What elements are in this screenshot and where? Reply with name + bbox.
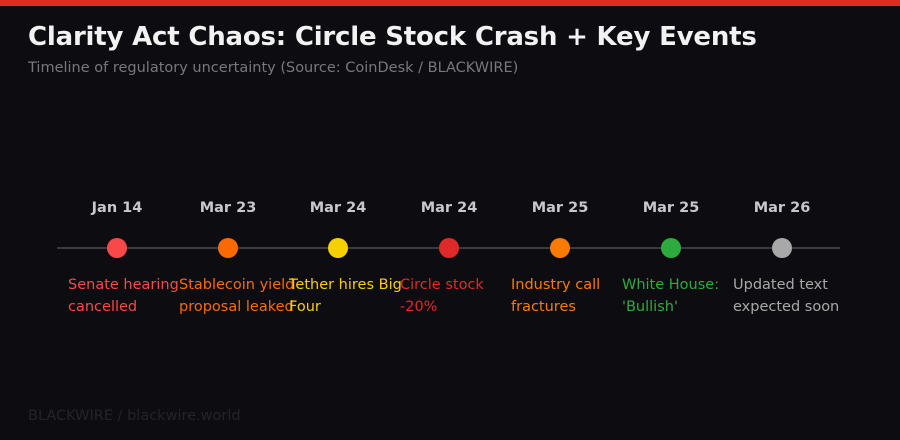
event-date-label: Mar 26 [754, 200, 811, 216]
event-marker-dot[interactable] [328, 238, 348, 258]
event-description-label: Senate hearing cancelled [68, 274, 186, 318]
event-description-label: Stablecoin yield proposal leaked [179, 274, 297, 318]
watermark: BLACKWIRE / blackwire.world [28, 408, 241, 424]
event-date-label: Jan 14 [92, 200, 143, 216]
event-description-label: Updated text expected soon [733, 274, 851, 318]
event-marker-dot[interactable] [661, 238, 681, 258]
event-marker-dot[interactable] [772, 238, 792, 258]
event-marker-dot[interactable] [439, 238, 459, 258]
event-marker-dot[interactable] [550, 238, 570, 258]
event-description-label: Tether hires Big Four [289, 274, 407, 318]
event-date-label: Mar 25 [643, 200, 700, 216]
event-marker-dot[interactable] [218, 238, 238, 258]
event-description-label: Industry call fractures [511, 274, 629, 318]
event-description-label: Circle stock -20% [400, 274, 518, 318]
event-description-label: White House: 'Bullish' [622, 274, 740, 318]
event-date-label: Mar 25 [532, 200, 589, 216]
timeline-plot: Jan 14Senate hearing cancelledMar 23Stab… [0, 0, 900, 440]
event-date-label: Mar 24 [421, 200, 478, 216]
event-date-label: Mar 23 [200, 200, 257, 216]
event-date-label: Mar 24 [310, 200, 367, 216]
event-marker-dot[interactable] [107, 238, 127, 258]
